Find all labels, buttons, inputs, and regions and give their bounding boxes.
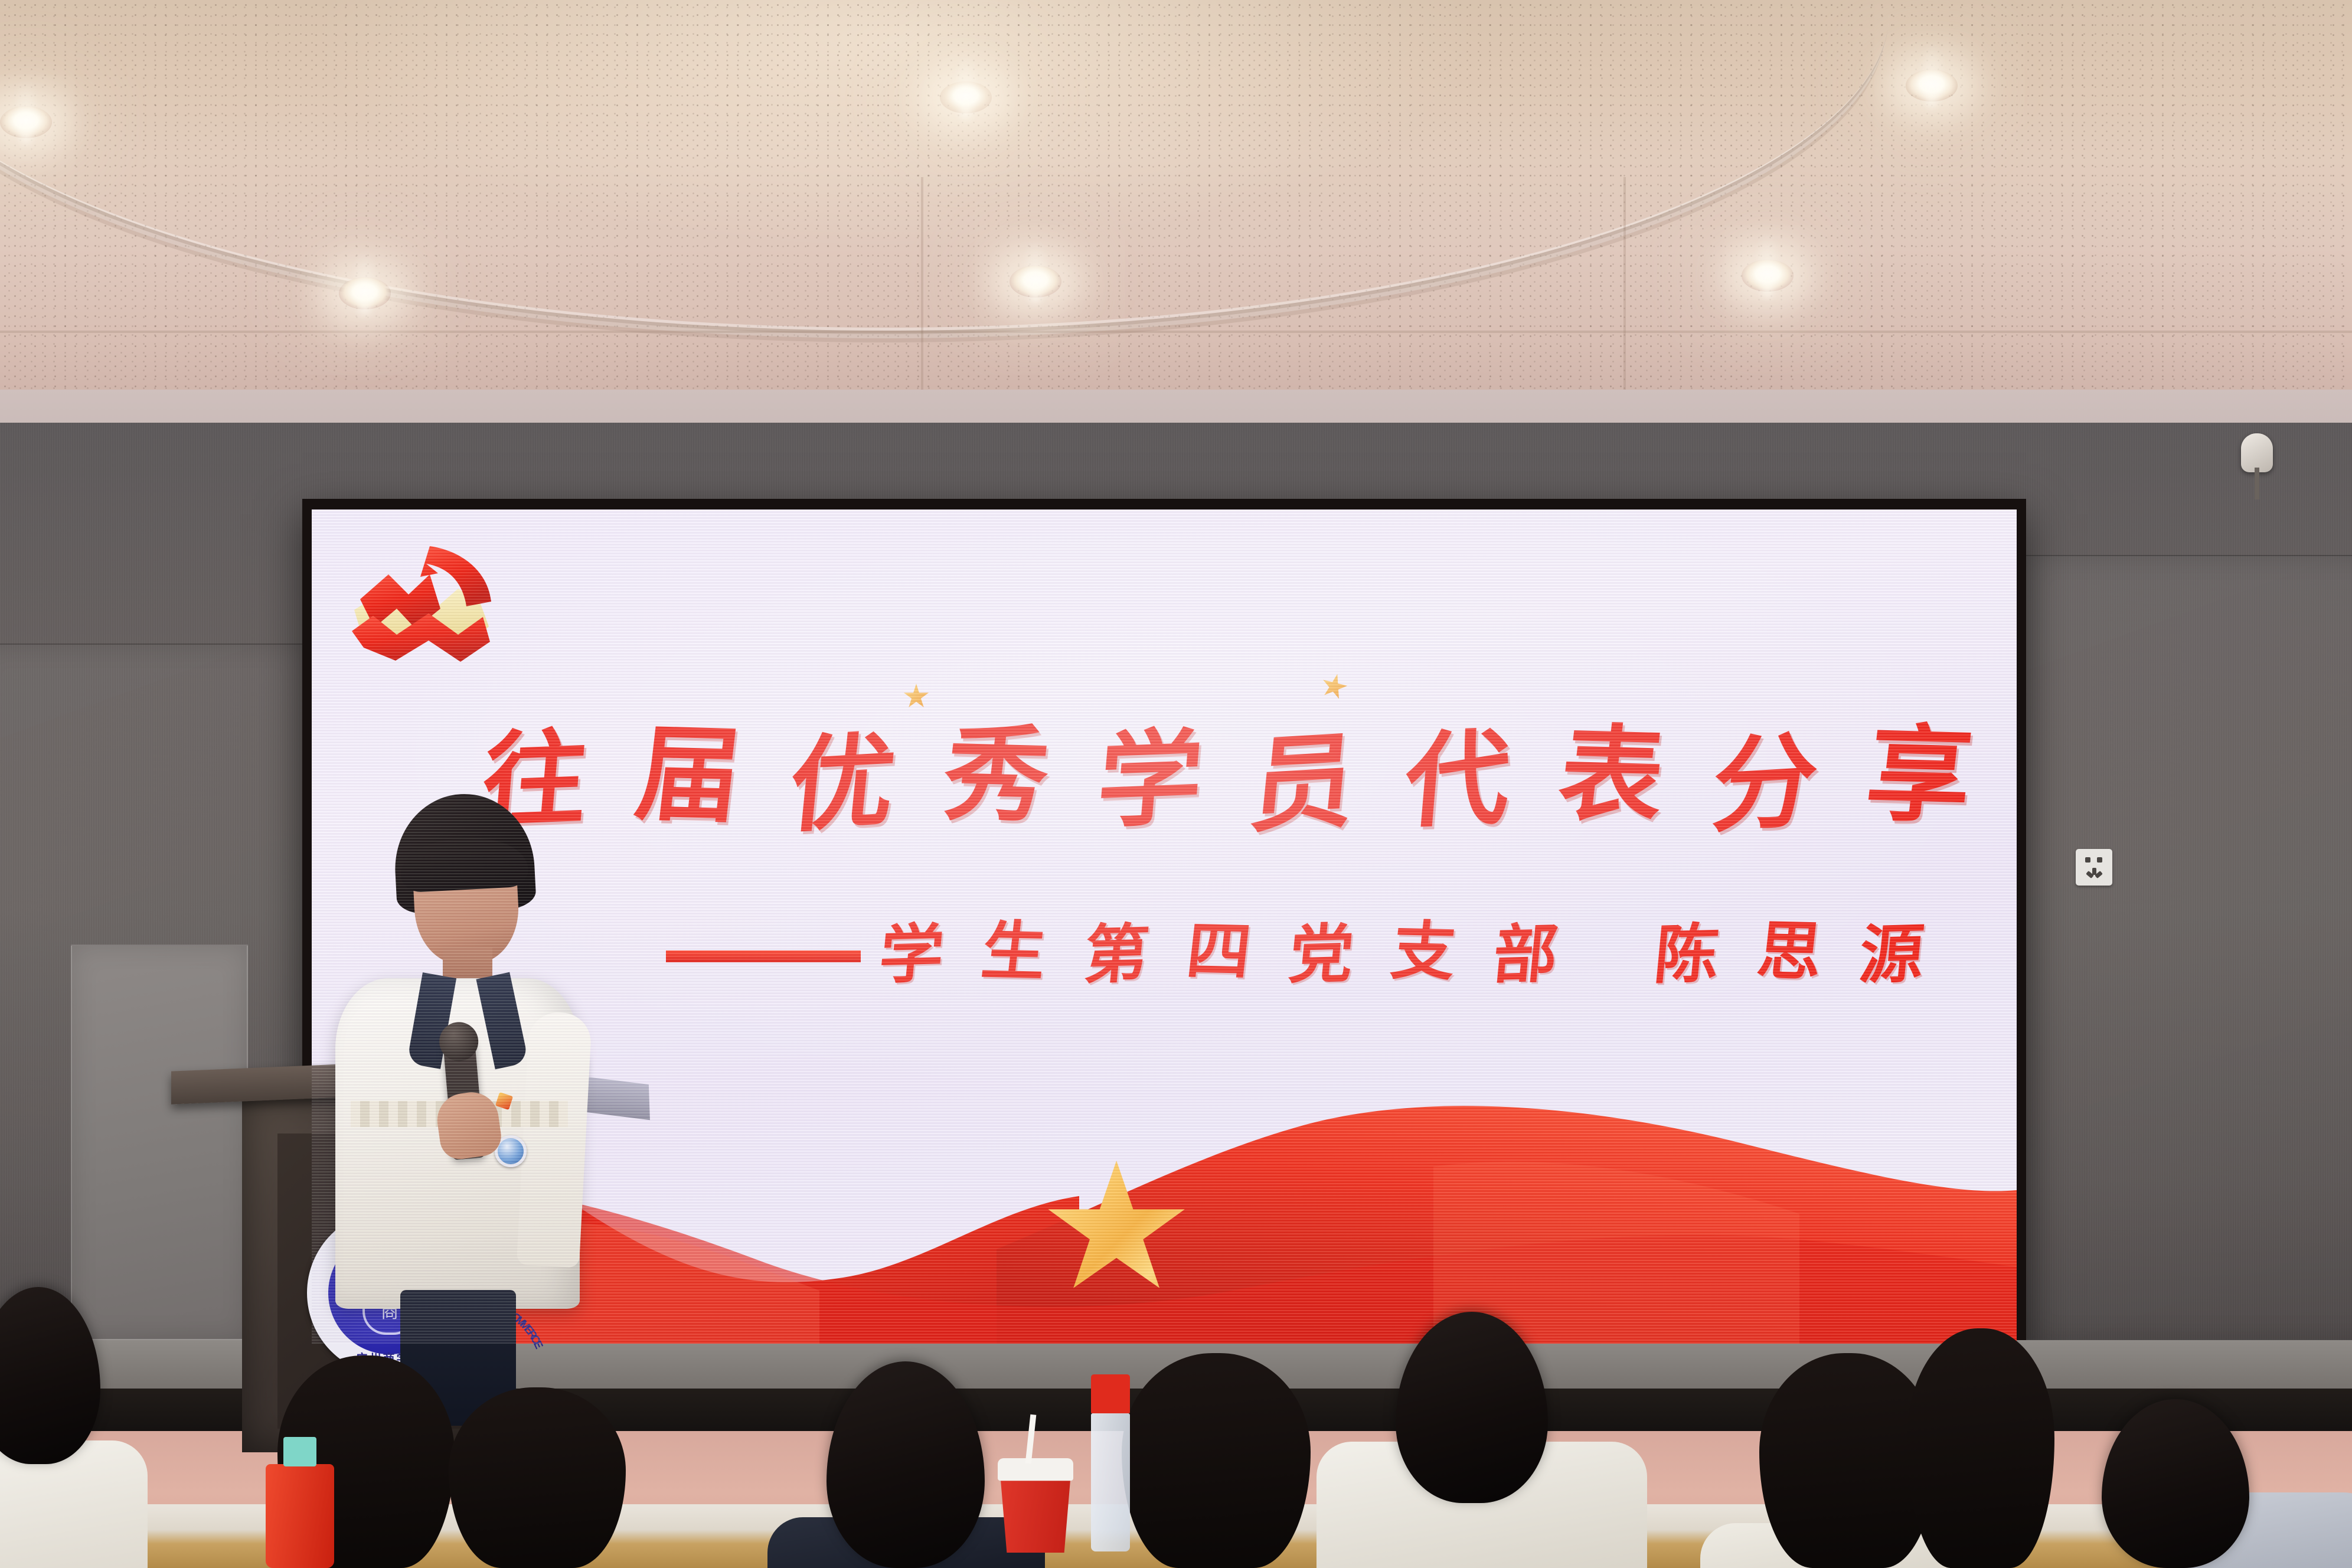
audience-head [449,1387,626,1568]
subtitle-char: 支 [1389,919,1459,985]
audience-head [1122,1353,1311,1568]
subtitle-char: 源 [1857,922,1927,988]
ceiling-downlight [1906,70,1958,102]
bottle-cap [283,1437,316,1466]
security-camera [2241,433,2273,472]
lecture-hall-photo: 往 届 优 秀 学 员 代 表 分 享 学 生 第 四 党 [0,0,2352,1568]
title-char: 秀 [939,722,1054,829]
ceiling-downlight [339,277,391,309]
subtitle-char: 思 [1754,919,1825,985]
bottle-cap [1091,1374,1130,1413]
cup-lid [998,1458,1073,1481]
title-char: 优 [785,729,900,838]
ceiling-downlight [1010,266,1061,298]
title-accent-star [1318,671,1350,702]
ceiling-seam [1623,177,1626,413]
ceiling-seam [0,331,2352,333]
title-accent-star [903,684,929,710]
subtitle-char: 部 [1491,922,1561,988]
presentation-title: 往 届 优 秀 学 员 代 表 分 享 [483,728,1971,832]
red-drink-cup[interactable] [998,1458,1073,1553]
title-char: 代 [1401,726,1514,834]
subtitle-char: 陈 [1652,922,1722,988]
subtitle-char: 党 [1286,922,1356,988]
ceiling-downlight [1742,260,1794,292]
title-char: 表 [1554,722,1670,829]
red-thermos-bottle[interactable] [266,1464,334,1568]
acoustic-panel-left-inner [71,945,248,1340]
cup-body [998,1481,1073,1553]
title-char: 学 [1093,726,1207,834]
subtitle-char: 生 [979,919,1050,985]
audience-head [1907,1328,2054,1568]
subtitle-char: 第 [1081,922,1151,988]
subtitle-char: 四 [1184,919,1255,985]
ceiling-seam [921,177,923,413]
cpc-party-emblem [340,538,517,674]
ceiling-downlight [940,81,992,113]
acoustic-panel-right [2025,555,2352,1340]
wall-power-outlet[interactable] [2076,849,2112,886]
ceiling [0,0,2352,413]
subtitle-char: 学 [877,922,947,988]
presentation-subtitle: 学 生 第 四 党 支 部 陈 思 源 [666,923,1923,986]
presenter-right-arm [517,1011,592,1268]
bottle-body [1091,1413,1130,1551]
subtitle-dash [666,950,861,962]
ceiling-downlight [0,106,52,138]
title-char: 届 [631,722,747,829]
title-char: 分 [1707,729,1822,838]
subtitle-text: 学 生 第 四 党 支 部 陈 思 源 [880,923,1923,986]
water-bottle[interactable] [1091,1374,1130,1551]
student-presenter [331,794,584,1420]
title-char: 享 [1861,722,1977,829]
title-char: 员 [1246,729,1361,838]
subtitle-space [1596,923,1616,986]
